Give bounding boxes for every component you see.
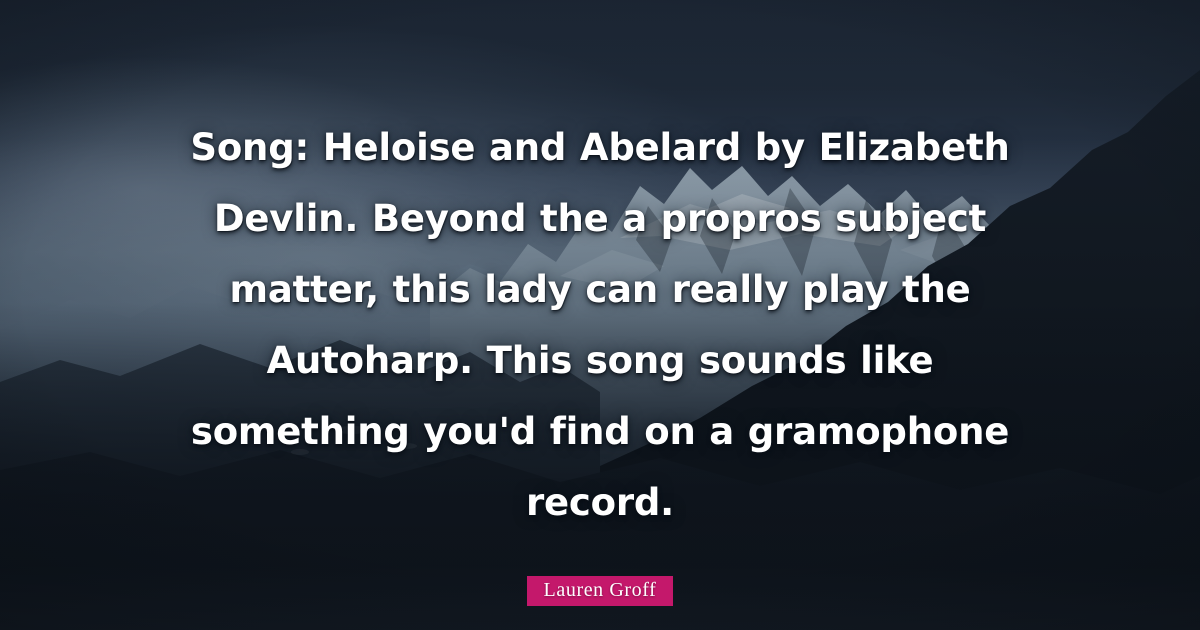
quote-text: Song: Heloise and Abelard by Elizabeth D… — [160, 112, 1040, 538]
card-content: Song: Heloise and Abelard by Elizabeth D… — [0, 0, 1200, 630]
quote-card: Song: Heloise and Abelard by Elizabeth D… — [0, 0, 1200, 630]
author-badge: Lauren Groff — [527, 576, 674, 606]
